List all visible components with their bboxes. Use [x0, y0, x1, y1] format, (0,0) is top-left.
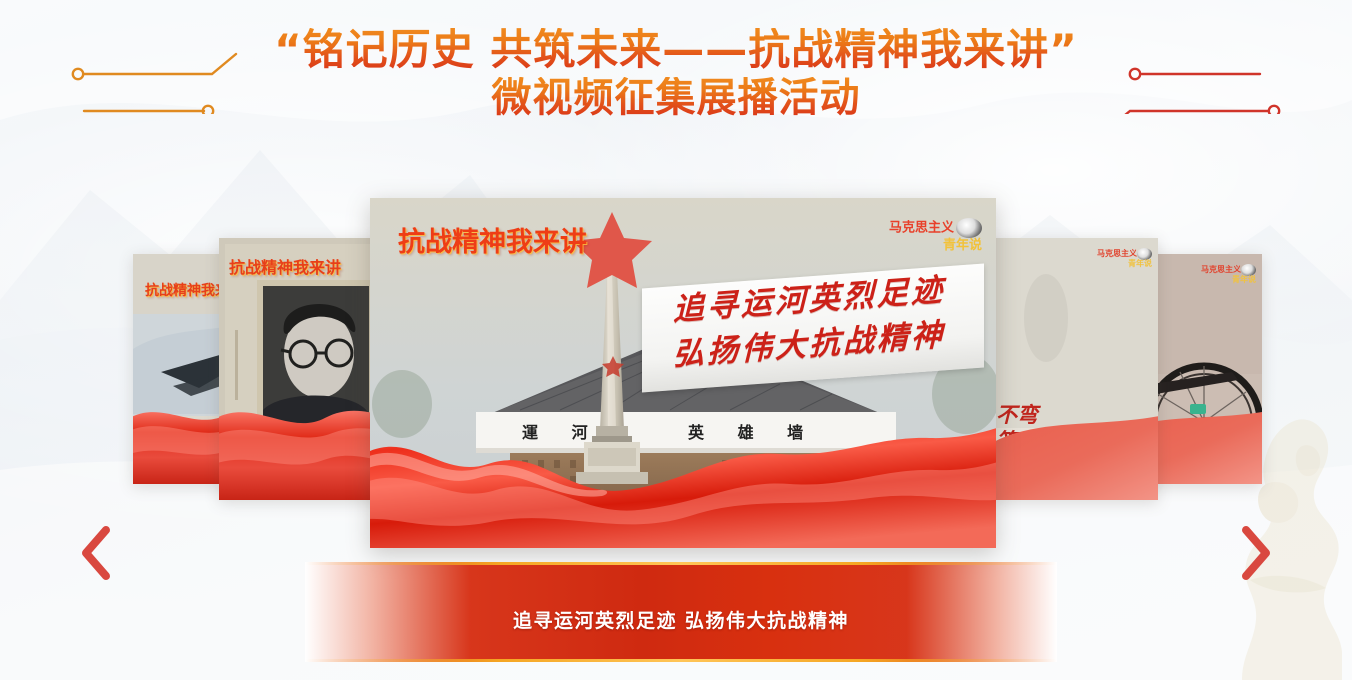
brand-line1: 马克思主义 [889, 219, 954, 234]
brand-line2: 青年说 [1097, 260, 1152, 268]
red-silk-ribbon-icon [990, 385, 1158, 500]
brand-logo: 马克思主义 青年说 [1201, 264, 1256, 284]
slide-header: 抗战精神我来讲 [229, 254, 341, 278]
brand-logo: 马克思主义 青年说 [889, 218, 982, 252]
carousel-prev-button[interactable] [74, 522, 120, 584]
carousel-slide-active[interactable]: 運 河 英 雄 墙 抗战精神我来讲 马克思主义 青年说 追寻运河英烈足迹 弘扬伟… [370, 198, 996, 548]
caption-rule-bottom [305, 659, 1057, 662]
marx-portrait-icon [956, 218, 982, 238]
video-carousel[interactable]: 抗战精神我来讲 从 80 [0, 186, 1352, 566]
brand-line2: 青年说 [889, 238, 982, 252]
brand-line1: 马克思主义 [1097, 249, 1137, 258]
slide-header: 抗战精神我来讲 [398, 220, 587, 259]
carousel-slide-right-inner[interactable]: 马克思主义 青年说 不弯 答卷 [990, 238, 1158, 500]
page-title: “铭记历史 共筑未来——抗战精神我来讲” 微视频征集展播活动 [0, 28, 1352, 119]
active-slide-caption: 追寻运河英烈足迹 弘扬伟大抗战精神 [305, 606, 1057, 633]
brand-logo: 马克思主义 青年说 [1097, 248, 1152, 268]
red-silk-ribbon-icon [219, 385, 387, 500]
chevron-left-icon[interactable] [86, 530, 106, 576]
brand-line2: 青年说 [1201, 276, 1256, 284]
chevron-right-icon[interactable] [1246, 530, 1266, 576]
active-slide-caption-bar: 追寻运河英烈足迹 弘扬伟大抗战精神 [305, 562, 1057, 662]
page-title-line1: “铭记历史 共筑未来——抗战精神我来讲” [0, 28, 1352, 73]
brand-line1: 马克思主义 [1201, 265, 1241, 274]
svg-text:英 雄 墙: 英 雄 墙 [687, 423, 817, 442]
carousel-slide-left-inner[interactable]: 抗战精神我来讲 [219, 238, 387, 500]
caption-rule-top [305, 562, 1057, 565]
svg-text:運 河: 運 河 [522, 423, 602, 442]
carousel-next-button[interactable] [1232, 522, 1278, 584]
page-title-line2: 微视频征集展播活动 [0, 77, 1352, 119]
